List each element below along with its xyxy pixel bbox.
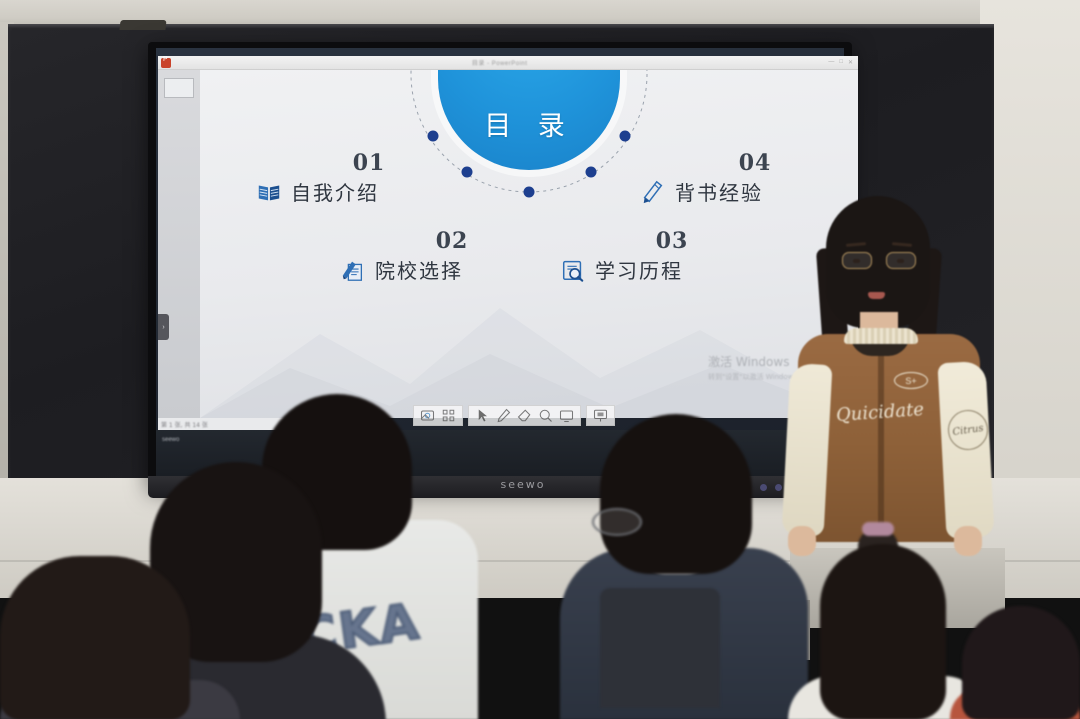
toc-number: 04: [680, 150, 830, 176]
indicator-dot: [775, 484, 782, 491]
audience-head-f: [962, 606, 1080, 719]
toc-number: 02: [384, 228, 520, 254]
blackboard-clip: [119, 20, 166, 30]
presenter: S+ Quicidate Citrus: [782, 196, 1002, 576]
powerpoint-window[interactable]: 目录 - PowerPoint — □ ✕: [158, 56, 858, 428]
slide-thumbnail[interactable]: [164, 78, 194, 98]
audience-glasses-icon: [592, 508, 642, 536]
toc-number: 01: [302, 150, 436, 176]
taskbar-label: seewo: [162, 436, 179, 445]
hair-scrunchie: [862, 522, 894, 536]
pencil-icon: [640, 179, 666, 205]
classroom-scene: 目录 - PowerPoint — □ ✕: [0, 0, 1080, 719]
eraser-icon[interactable]: [517, 408, 532, 423]
hand-left: [788, 526, 816, 556]
window-controls[interactable]: — □ ✕: [828, 59, 853, 66]
magnifier-icon[interactable]: [538, 408, 553, 423]
hand-right: [954, 526, 982, 556]
toolbar-group-present[interactable]: [586, 405, 615, 426]
glasses-icon: [842, 252, 918, 270]
toc-label: 院校选择: [375, 255, 463, 284]
slide-canvas[interactable]: 目 录 01 自我介绍 02: [200, 70, 858, 418]
chair-back: [600, 588, 720, 708]
audience-head-e: [820, 544, 946, 719]
toc-label: 背书经验: [675, 177, 763, 206]
toc-item-02[interactable]: 02 院校选择: [340, 228, 520, 284]
pen-document-icon: [340, 257, 366, 283]
slide-title: 目 录: [438, 104, 620, 143]
jacket-sleeve-left: [782, 363, 833, 537]
slide-counter: 第 1 张, 共 14 张: [161, 420, 208, 429]
toc-label: 自我介绍: [291, 177, 379, 206]
open-book-icon: [256, 179, 282, 205]
image-gallery-icon[interactable]: [420, 408, 435, 423]
toc-number: 03: [604, 228, 740, 254]
mountain-watermark: [200, 268, 858, 418]
indicator-dot: [760, 484, 767, 491]
window-title: 目录 - PowerPoint: [171, 58, 828, 67]
grid-apps-icon[interactable]: [441, 408, 456, 423]
close-button[interactable]: ✕: [848, 59, 853, 66]
sidebar-toggle-button[interactable]: ›: [158, 314, 169, 340]
maximize-button[interactable]: □: [839, 59, 843, 66]
powerpoint-icon: [161, 58, 171, 68]
toc-label: 学习历程: [595, 255, 683, 284]
seewo-brand-label: seewo: [488, 478, 558, 494]
seewo-annotation-toolbar[interactable]: [413, 404, 593, 426]
screen-icon[interactable]: [559, 408, 574, 423]
audience-head-d: [0, 556, 190, 719]
audience-head-c: [600, 414, 752, 574]
jacket-placket: [878, 346, 884, 536]
toc-item-03[interactable]: 03 学习历程: [560, 228, 740, 284]
cursor-arrow-icon[interactable]: [475, 408, 490, 423]
jacket-rib-collar: [844, 328, 918, 344]
slide-thumbnail-pane[interactable]: [158, 70, 200, 418]
mouth: [868, 292, 885, 299]
powerpoint-titlebar[interactable]: 目录 - PowerPoint — □ ✕: [158, 56, 858, 70]
toolbar-group-tools[interactable]: [468, 405, 581, 426]
pen-icon[interactable]: [496, 408, 511, 423]
toc-item-01[interactable]: 01 自我介绍: [256, 150, 436, 206]
jacket-badge: S+: [894, 372, 928, 389]
presentation-icon[interactable]: [593, 408, 608, 423]
minimize-button[interactable]: —: [828, 59, 834, 66]
document-search-icon: [560, 257, 586, 283]
toolbar-group-media[interactable]: [413, 405, 463, 426]
